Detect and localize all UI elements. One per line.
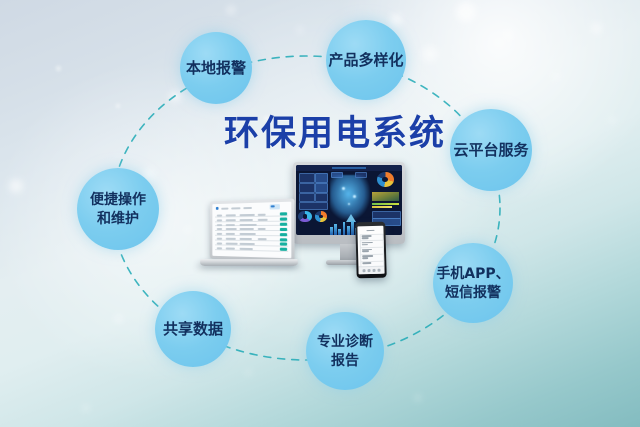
laptop-computer bbox=[200, 200, 298, 274]
laptop-base bbox=[199, 259, 298, 266]
dashboard-header bbox=[296, 165, 402, 171]
laptop-screen bbox=[212, 202, 291, 259]
laptop-lid bbox=[210, 198, 295, 261]
feature-node-label: 本地报警 bbox=[186, 59, 246, 78]
feature-node-label-line2: 报告 bbox=[317, 352, 373, 370]
feature-node-label-line2: 短信报警 bbox=[436, 284, 509, 302]
smartphone bbox=[355, 222, 386, 279]
feature-node-shared-data[interactable]: 共享数据 bbox=[155, 291, 231, 367]
feature-node-label: 产品多样化 bbox=[328, 51, 403, 70]
feature-node-easy-operation[interactable]: 便捷操作和维护 bbox=[77, 168, 159, 250]
china-map-visual bbox=[330, 175, 370, 220]
feature-node-product-diversity[interactable]: 产品多样化 bbox=[326, 20, 406, 100]
monitor-screen bbox=[296, 165, 402, 235]
phone-screen bbox=[357, 226, 384, 275]
feature-node-label: 云平台服务 bbox=[453, 141, 528, 160]
feature-node-label: 便捷操作 bbox=[90, 191, 146, 209]
feature-node-cloud-platform[interactable]: 云平台服务 bbox=[450, 109, 532, 191]
page-title: 环保用电系统 bbox=[224, 113, 446, 155]
phone-nav-bar bbox=[358, 266, 384, 275]
monitor-bezel bbox=[293, 162, 405, 244]
device-cluster bbox=[180, 158, 440, 318]
feature-node-mobile-app-sms[interactable]: 手机APP、短信报警 bbox=[433, 243, 513, 323]
feature-node-label: 专业诊断 bbox=[317, 333, 373, 351]
feature-node-local-alarm[interactable]: 本地报警 bbox=[180, 32, 252, 104]
feature-node-diagnostic-report[interactable]: 专业诊断报告 bbox=[306, 312, 384, 390]
feature-node-label-line2: 和维护 bbox=[90, 210, 146, 228]
feature-node-label: 共享数据 bbox=[163, 320, 223, 339]
desktop-monitor bbox=[293, 162, 405, 244]
infographic-canvas: 环保用电系统 本地报警产品多样化云平台服务手机APP、短信报警专业诊断报告共享数… bbox=[0, 0, 640, 427]
feature-node-label: 手机APP、 bbox=[436, 265, 509, 283]
